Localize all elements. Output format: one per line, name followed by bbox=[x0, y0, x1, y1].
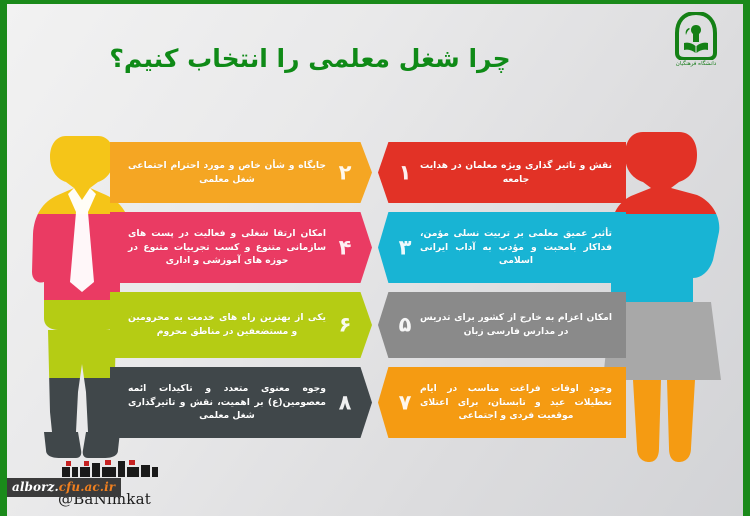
reason-text-4: امکان ارتقا شغلی و فعالیت در پست های ساز… bbox=[128, 227, 326, 269]
reasons-list: ۱ نقش و تاثیر گذاری ویژه معلمان در هدایت… bbox=[0, 138, 750, 443]
reason-number-4: ۴ bbox=[324, 237, 366, 258]
footer: بانیمکت @BaNimkat alborz.cfu.ac.ir bbox=[0, 454, 750, 516]
left-border-stripe bbox=[0, 0, 7, 516]
reasons-row: ۳ تأثیر عمیق معلمی بر تربیت نسلی مؤمن، ف… bbox=[0, 208, 750, 288]
reason-item-8[interactable]: ۸ وجوه معنوی متعدد و تاکیدات ائمه معصومی… bbox=[110, 367, 372, 438]
top-border-stripe bbox=[0, 0, 750, 4]
right-border-stripe bbox=[743, 0, 750, 516]
reason-text-7: وجود اوقات فراغت مناسب در ایام تعطیلات ع… bbox=[420, 382, 612, 424]
watermark-domain-prefix: alborz. bbox=[12, 480, 59, 494]
reason-number-8: ۸ bbox=[324, 392, 366, 413]
university-logo-caption: دانشگاه فرهنگیان bbox=[658, 61, 734, 67]
reason-item-3[interactable]: ۳ تأثیر عمیق معلمی بر تربیت نسلی مؤمن، ف… bbox=[378, 212, 626, 283]
reason-text-1: نقش و تاثیر گذاری ویژه معلمان در هدایت ج… bbox=[420, 159, 612, 187]
header: چرا شغل معلمی را انتخاب کنیم؟ دانشگاه فر… bbox=[0, 0, 750, 118]
infographic-page: چرا شغل معلمی را انتخاب کنیم؟ دانشگاه فر… bbox=[0, 0, 750, 516]
reason-item-6[interactable]: ۶ یکی از بهترین راه های خدمت به محرومین … bbox=[110, 292, 372, 358]
reasons-row: ۷ وجود اوقات فراغت مناسب در ایام تعطیلات… bbox=[0, 363, 750, 443]
university-shield-book-logo-icon bbox=[673, 12, 719, 60]
university-logo: دانشگاه فرهنگیان bbox=[658, 12, 734, 84]
reasons-row: ۵ امکان اعزام به خارج از کشور برای تدریس… bbox=[0, 288, 750, 363]
watermark-domain-suffix: cfu.ac.ir bbox=[59, 480, 115, 494]
reason-text-2: جایگاه و شأن خاص و مورد احترام اجتماعی ش… bbox=[128, 159, 326, 187]
reason-item-5[interactable]: ۵ امکان اعزام به خارج از کشور برای تدریس… bbox=[378, 292, 626, 358]
reason-text-5: امکان اعزام به خارج از کشور برای تدریس د… bbox=[420, 311, 612, 339]
reason-text-3: تأثیر عمیق معلمی بر تربیت نسلی مؤمن، فدا… bbox=[420, 227, 612, 269]
reason-item-1[interactable]: ۱ نقش و تاثیر گذاری ویژه معلمان در هدایت… bbox=[378, 142, 626, 203]
reason-item-7[interactable]: ۷ وجود اوقات فراغت مناسب در ایام تعطیلات… bbox=[378, 367, 626, 438]
reason-number-2: ۲ bbox=[324, 162, 366, 183]
page-title: چرا شغل معلمی را انتخاب کنیم؟ bbox=[0, 44, 620, 73]
reason-text-8: وجوه معنوی متعدد و تاکیدات ائمه معصومین(… bbox=[128, 382, 326, 424]
reason-item-4[interactable]: ۴ امکان ارتقا شغلی و فعالیت در پست های س… bbox=[110, 212, 372, 283]
site-watermark: alborz.cfu.ac.ir bbox=[6, 478, 121, 497]
reason-number-6: ۶ bbox=[324, 315, 366, 336]
reasons-row: ۱ نقش و تاثیر گذاری ویژه معلمان در هدایت… bbox=[0, 138, 750, 208]
reason-text-6: یکی از بهترین راه های خدمت به محرومین و … bbox=[128, 311, 326, 339]
reason-item-2[interactable]: ۲ جایگاه و شأن خاص و مورد احترام اجتماعی… bbox=[110, 142, 372, 203]
